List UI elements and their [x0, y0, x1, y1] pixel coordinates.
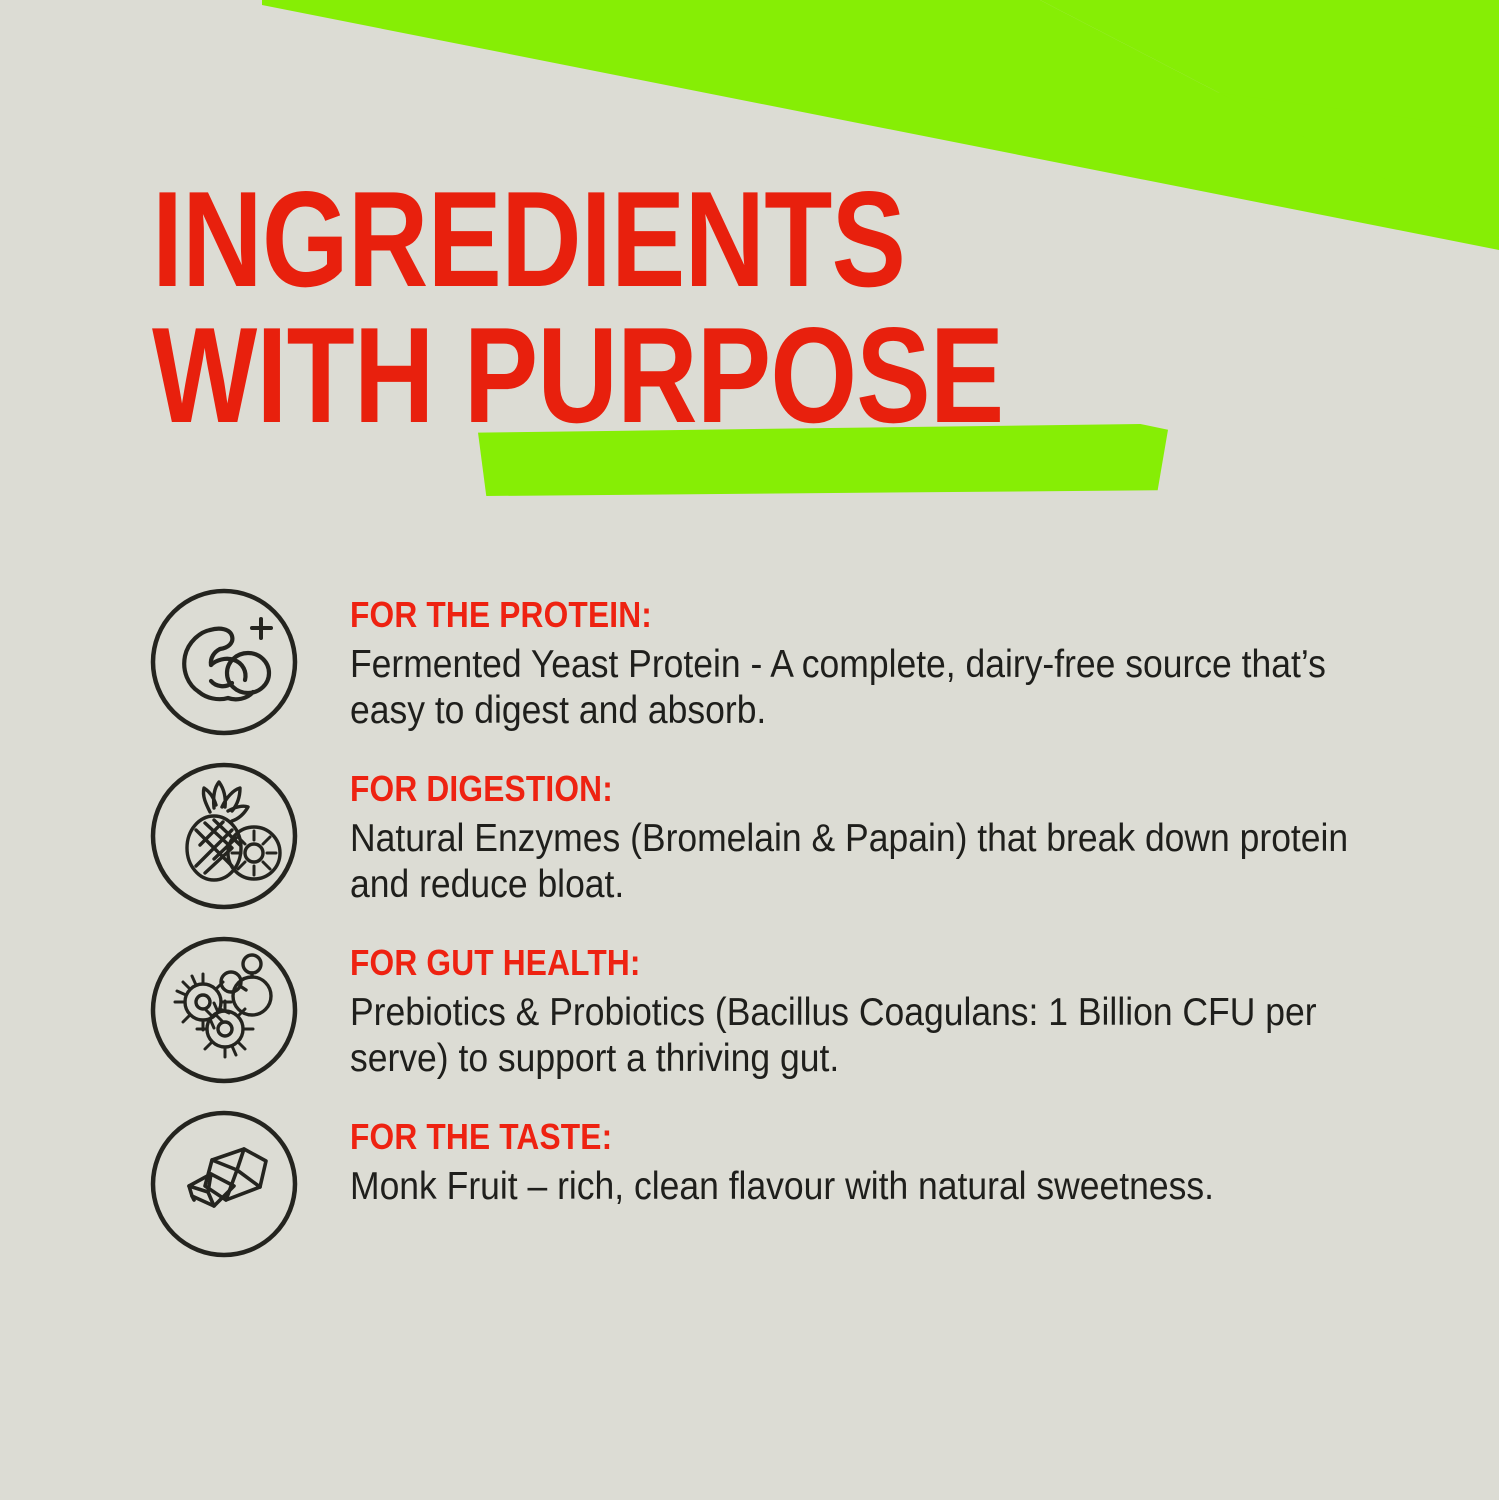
benefit-row: FOR DIGESTION: Natural Enzymes (Bromelai…: [148, 760, 1378, 912]
benefit-row: FOR THE TASTE: Monk Fruit – rich, clean …: [148, 1108, 1378, 1260]
headline-line-1: INGREDIENTS: [152, 176, 1095, 304]
benefit-body: Fermented Yeast Protein - A complete, da…: [350, 642, 1379, 735]
benefit-title: FOR THE PROTEIN:: [350, 596, 1255, 634]
page-title: INGREDIENTS WITH PURPOSE: [152, 176, 1302, 440]
benefit-title: FOR DIGESTION:: [350, 770, 1255, 808]
benefit-body: Monk Fruit – rich, clean flavour with na…: [350, 1164, 1379, 1210]
microbes-icon: [148, 934, 300, 1086]
benefits-list: FOR THE PROTEIN: Fermented Yeast Protein…: [148, 586, 1378, 1260]
headline-line-2: WITH PURPOSE: [152, 312, 1095, 440]
chocolate-chunks-icon: [148, 1108, 300, 1260]
benefit-text: FOR GUT HEALTH: Prebiotics & Probiotics …: [350, 934, 1378, 1083]
benefit-body: Prebiotics & Probiotics (Bacillus Coagul…: [350, 990, 1379, 1083]
pineapple-icon: [148, 760, 300, 912]
benefit-row: FOR GUT HEALTH: Prebiotics & Probiotics …: [148, 934, 1378, 1086]
benefit-row: FOR THE PROTEIN: Fermented Yeast Protein…: [148, 586, 1378, 738]
benefit-title: FOR THE TASTE:: [350, 1118, 1255, 1156]
flexed-bicep-icon: [148, 586, 300, 738]
benefit-text: FOR THE TASTE: Monk Fruit – rich, clean …: [350, 1108, 1378, 1210]
benefit-title: FOR GUT HEALTH:: [350, 944, 1255, 982]
headline-line-2-text: WITH PURPOSE: [152, 299, 1003, 451]
benefit-text: FOR DIGESTION: Natural Enzymes (Bromelai…: [350, 760, 1378, 909]
benefit-body: Natural Enzymes (Bromelain & Papain) tha…: [350, 816, 1379, 909]
benefit-text: FOR THE PROTEIN: Fermented Yeast Protein…: [350, 586, 1378, 735]
infographic-page: INGREDIENTS WITH PURPOSE: [0, 0, 1499, 1500]
